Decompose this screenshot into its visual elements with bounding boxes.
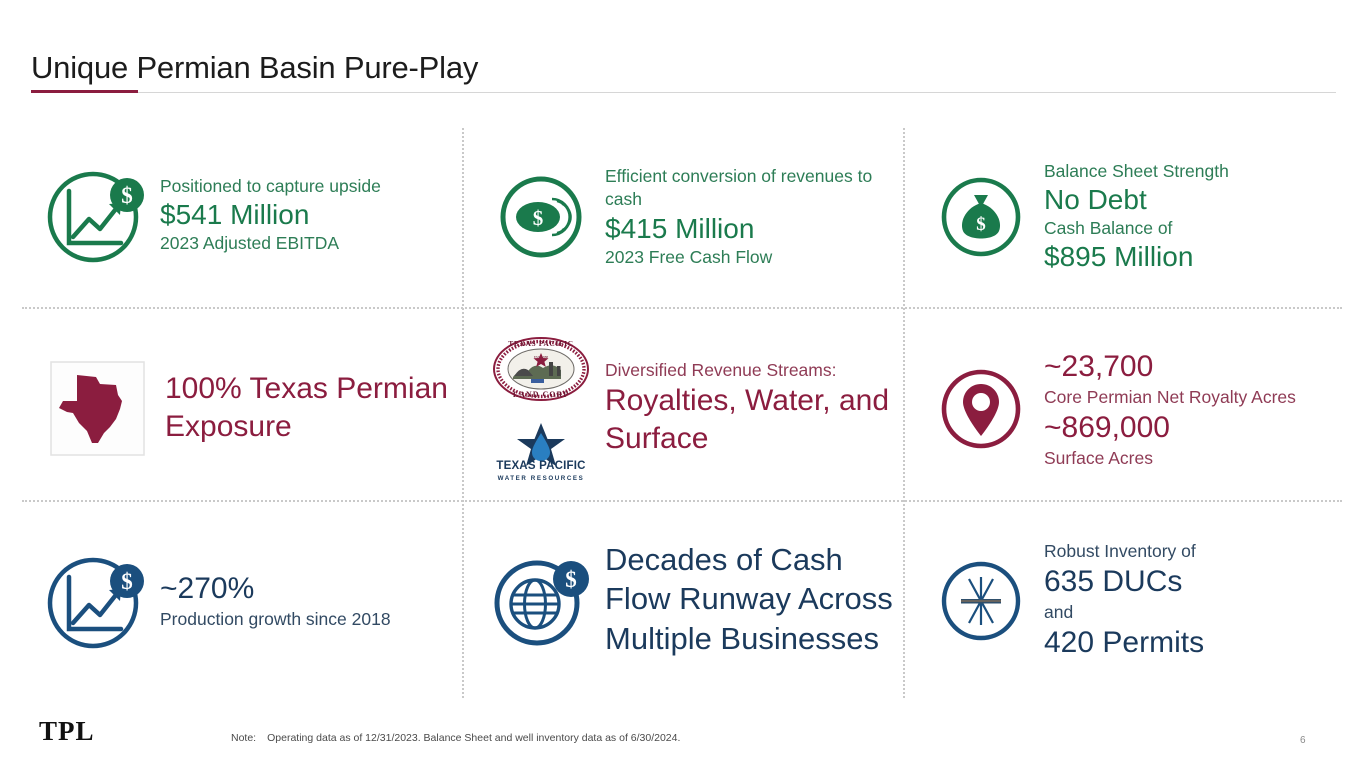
cell-value-line2: 100% Texas Permian Exposure [165,370,450,446]
cell-net-royalty-acres: ~23,700 Core Permian Net Royalty Acres ~… [918,330,1342,488]
cell-positioned-to-capture-upside: $ Positioned to capture upside $541 Mill… [30,150,450,280]
cell-label-line1: Robust Inventory of [1044,540,1342,563]
cell-value-line4: $895 Million [1044,240,1342,274]
cell-text-block: ~270% Production growth since 2018 [160,570,450,631]
cell-balance-sheet-strength: $ Balance Sheet Strength No Debt Cash Ba… [918,150,1342,284]
cell-value-line1: Decades of Cash Flow Runway Across Multi… [605,540,895,657]
cell-label-line1: Efficient conversion of revenues to cash [605,165,892,212]
svg-text:$: $ [976,214,986,235]
globe-dollar-icon: $ [477,547,605,651]
slide-root: Unique Permian Basin Pure-Play $ Positio… [0,0,1365,768]
cell-label-line3: 2023 Free Cash Flow [605,246,892,269]
cell-label-line4: Surface Acres [1044,447,1342,470]
cell-diversified-revenue-streams: TEXAS PACIFIC EST. 1888 LAND CORP TEXAS … [477,330,895,486]
title-divider-line [31,92,1336,93]
svg-text:TEXAS PACIFIC: TEXAS PACIFIC [496,460,585,472]
texas-map-icon [30,361,165,456]
cell-text-block: Robust Inventory of 635 DUCs and 420 Per… [1044,540,1342,662]
tpwr-logo-subtitle: WATER RESOURCES [498,475,585,482]
cell-label-line1: Balance Sheet Strength [1044,160,1342,183]
cell-text-block: Diversified Revenue Streams: Royalties, … [605,359,895,458]
tpwr-logo: TEXAS PACIFIC [489,421,593,473]
cell-texas-permian-exposure: 100% Texas Permian Exposure [30,338,450,478]
highlights-grid: $ Positioned to capture upside $541 Mill… [22,122,1342,700]
cell-value-line1: ~23,700 [1044,348,1342,386]
page-title: Unique Permian Basin Pure-Play [31,50,478,86]
svg-text:$: $ [533,206,544,230]
cell-value-line3: ~869,000 [1044,409,1342,447]
cell-text-block: Efficient conversion of revenues to cash… [605,165,892,269]
cell-value-line1: ~270% [160,570,450,608]
cell-label-line2: Production growth since 2018 [160,608,450,631]
cell-text-block: 100% Texas Permian Exposure [165,370,450,446]
cell-text-block: Decades of Cash Flow Runway Across Multi… [605,540,895,657]
page-number: 6 [1300,735,1306,746]
cell-production-growth: $ ~270% Production growth since 2018 [30,540,450,662]
cell-label-line1: Positioned to capture upside [160,175,450,198]
cell-efficient-conversion: $ Efficient conversion of revenues to ca… [477,154,892,280]
cell-value-line2: 635 DUCs [1044,563,1342,601]
chart-growth-dollar-icon: $ [30,549,160,653]
brand-logos-group: TEXAS PACIFIC EST. 1888 LAND CORP TEXAS … [477,335,605,482]
cell-label-line3: and [1044,601,1342,624]
tpl-logo: TPL [39,716,95,747]
svg-text:TEXAS PACIFIC: TEXAS PACIFIC [508,339,573,348]
cell-value-line2: $541 Million [160,198,450,232]
cell-label-line1: Diversified Revenue Streams: [605,359,895,382]
cell-text-block: Balance Sheet Strength No Debt Cash Bala… [1044,160,1342,275]
svg-text:$: $ [121,183,133,208]
grid-divider-vertical-1 [462,128,464,698]
money-bag-icon: $ [918,173,1044,261]
map-pin-circle-icon [918,364,1044,454]
cell-value-line4: 420 Permits [1044,624,1342,662]
footnote-text: Operating data as of 12/31/2023. Balance… [267,732,680,744]
title-accent-bar [31,90,138,93]
grid-divider-horizontal-1 [22,307,1342,309]
cash-stack-dollar-icon: $ [477,172,605,262]
cell-text-block: ~23,700 Core Permian Net Royalty Acres ~… [1044,348,1342,470]
svg-text:$: $ [121,569,133,594]
cell-label-line2: Core Permian Net Royalty Acres [1044,386,1342,409]
chart-growth-dollar-icon: $ [30,163,160,267]
grid-divider-vertical-2 [903,128,905,698]
cell-label-line3: 2023 Adjusted EBITDA [160,232,450,255]
svg-text:EST. 1888: EST. 1888 [534,355,549,359]
cell-decades-of-cash-flow-runway: $ Decades of Cash Flow Runway Across Mul… [477,518,895,680]
cell-robust-inventory: Robust Inventory of 635 DUCs and 420 Per… [918,526,1342,676]
well-laterals-circle-icon [918,555,1044,647]
grid-divider-horizontal-2 [22,500,1342,502]
cell-text-block: Positioned to capture upside $541 Millio… [160,175,450,256]
footnote-label: Note: [231,732,256,744]
cell-label-line3: Cash Balance of [1044,217,1342,240]
svg-text:$: $ [565,567,577,592]
cell-value-line2: $415 Million [605,212,892,246]
cell-value-line2: Royalties, Water, and Surface [605,382,895,458]
footnote: Note:Operating data as of 12/31/2023. Ba… [231,732,680,744]
tpl-seal-logo: TEXAS PACIFIC EST. 1888 LAND CORP [491,335,591,403]
svg-text:LAND CORP: LAND CORP [513,390,569,399]
cell-value-line2: No Debt [1044,183,1342,217]
